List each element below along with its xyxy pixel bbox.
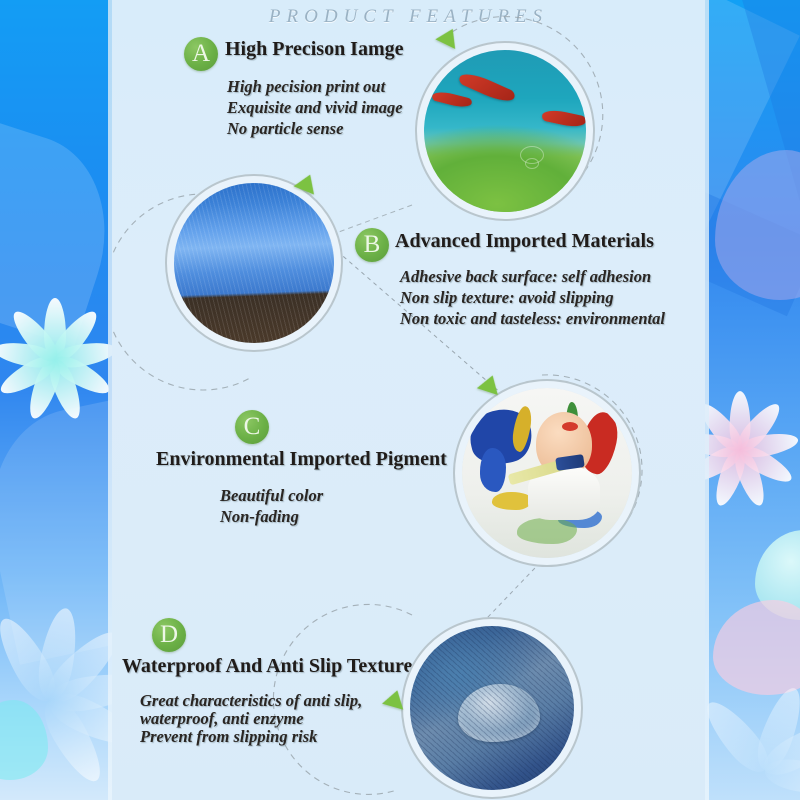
- feature-b-line-1: Adhesive back surface: self adhesion: [400, 266, 651, 287]
- feature-c-heading: Environmental Imported Pigment: [156, 448, 447, 471]
- feature-a-line-2: Exquisite and vivid image: [227, 97, 403, 118]
- badge-d: D: [152, 618, 186, 652]
- right-decorative-band: [705, 0, 800, 800]
- badge-b: B: [355, 228, 389, 262]
- feature-b-line-3: Non toxic and tasteless: environmental: [400, 308, 665, 329]
- feature-b-photo: [174, 183, 334, 343]
- decorative-blob: [0, 700, 48, 780]
- badge-a: A: [184, 37, 218, 71]
- feature-a-line-3: No particle sense: [227, 118, 343, 139]
- product-features-infographic: PRODUCT FEATURES A High Precison Iamge H…: [0, 0, 800, 800]
- feature-d-photo: [410, 626, 574, 790]
- feature-d-heading: Waterproof And Anti Slip Texture: [122, 655, 412, 678]
- content-panel: PRODUCT FEATURES A High Precison Iamge H…: [112, 0, 705, 800]
- badge-c: C: [235, 410, 269, 444]
- page-title: PRODUCT FEATURES: [112, 6, 705, 28]
- feature-b-line-2: Non slip texture: avoid slipping: [400, 287, 614, 308]
- feature-a-heading: High Precison Iamge: [225, 38, 404, 61]
- left-decorative-band: [0, 0, 112, 800]
- feature-d-arrow-icon: [382, 687, 408, 709]
- water-droplet: [458, 684, 540, 742]
- feature-a-photo: [424, 50, 586, 212]
- feature-c-photo: [462, 388, 632, 558]
- feature-c-line-1: Beautiful color: [220, 485, 323, 506]
- decorative-blob: [713, 600, 800, 695]
- feature-a-line-1: High pecision print out: [227, 76, 385, 97]
- feature-b-heading: Advanced Imported Materials: [395, 230, 654, 253]
- feature-c-line-2: Non-fading: [220, 506, 299, 527]
- feature-d-line-3: Prevent from slipping risk: [140, 726, 317, 747]
